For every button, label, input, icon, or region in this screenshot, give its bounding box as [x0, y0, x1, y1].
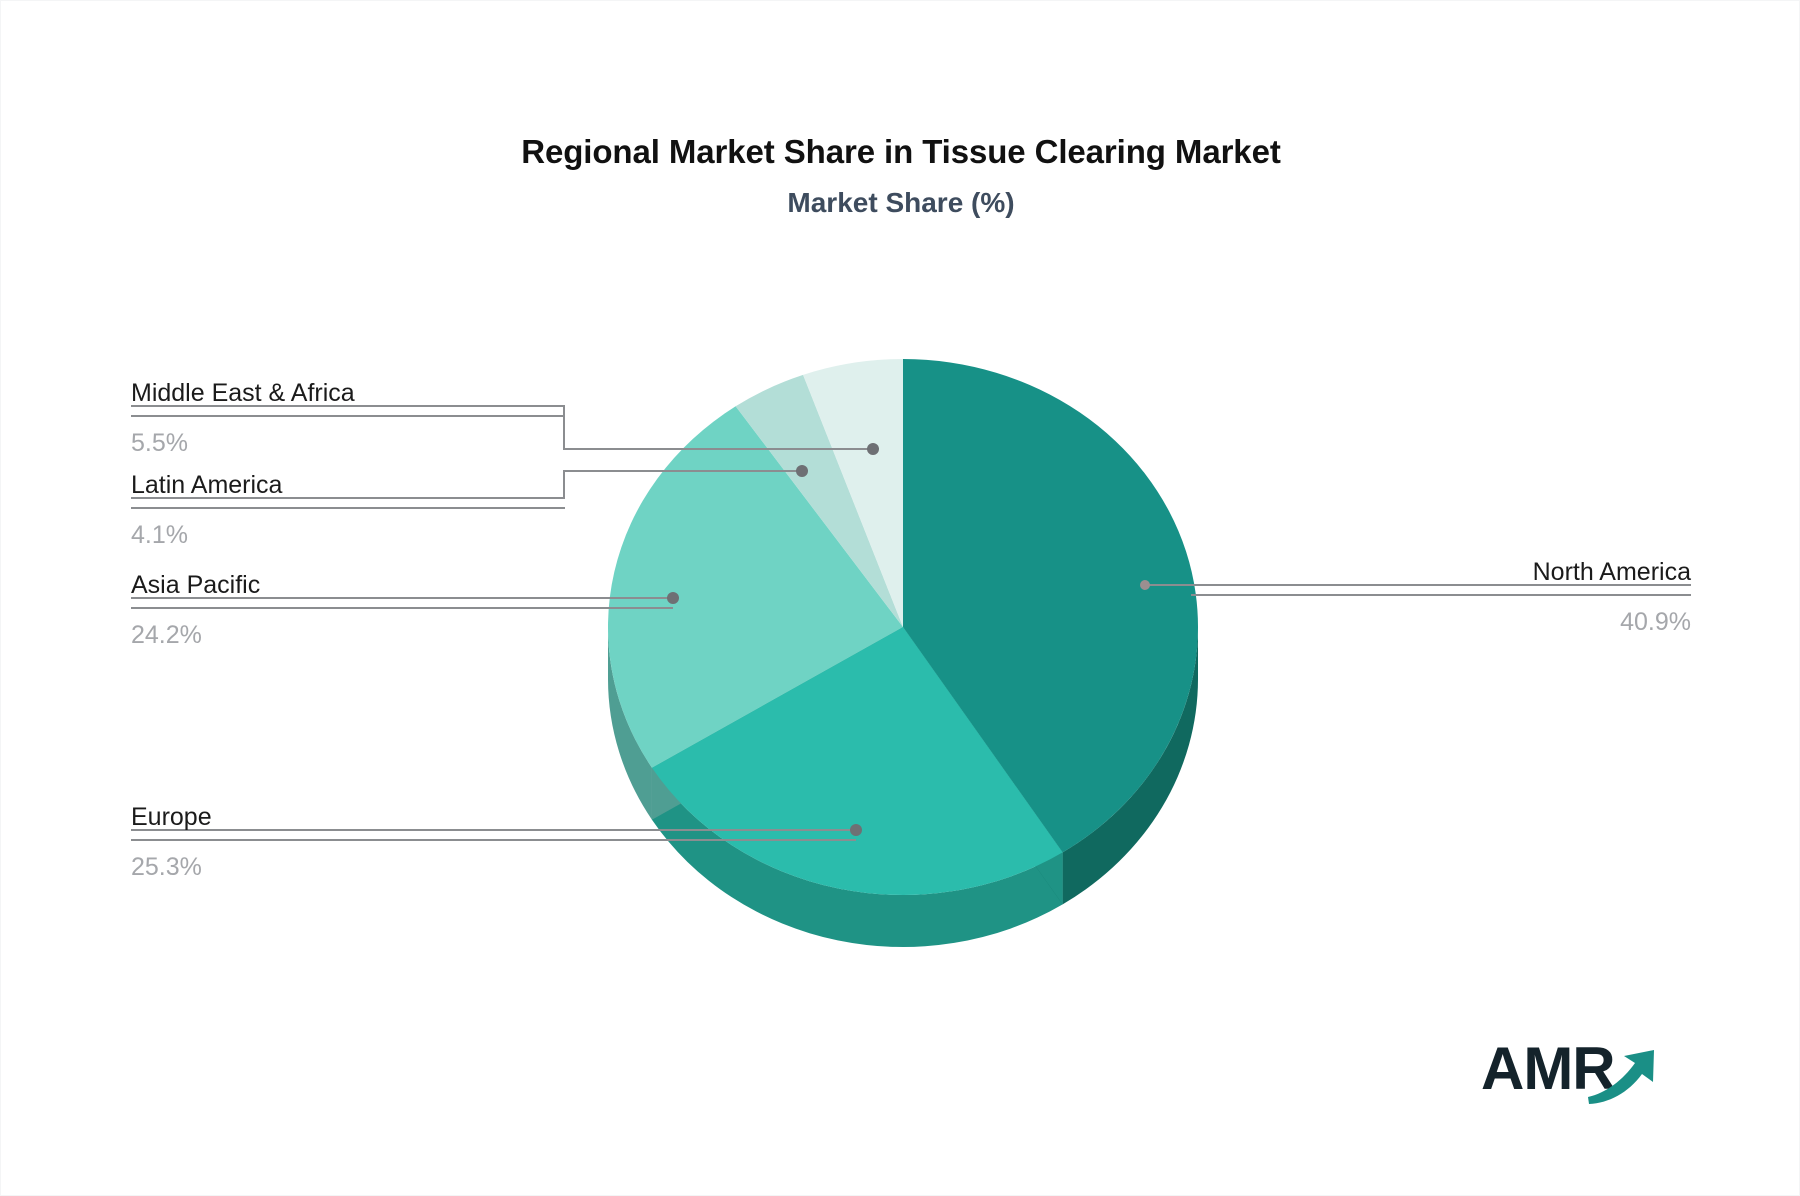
callout-europe-value: 25.3%	[131, 855, 856, 880]
callout-asia-pacific-label: Asia Pacific	[131, 573, 673, 598]
callout-north-america: North America 40.9%	[1191, 560, 1691, 635]
page-title: Regional Market Share in Tissue Clearing…	[1, 133, 1800, 171]
callout-asia-pacific: Asia Pacific 24.2%	[131, 573, 673, 648]
amr-logo-text: AMR	[1481, 1035, 1615, 1102]
callout-latin-america: Latin America 4.1%	[131, 473, 565, 548]
chart-subtitle: Market Share (%)	[1, 187, 1800, 219]
amr-logo: AMR	[1481, 1033, 1671, 1113]
callout-mea-rule	[131, 415, 565, 417]
callout-asia-pacific-value: 24.2%	[131, 623, 673, 648]
callout-latin-america-label: Latin America	[131, 473, 565, 498]
callout-north-america-rule	[1191, 594, 1691, 596]
pie-svg	[568, 359, 1238, 979]
callout-north-america-label: North America	[1191, 560, 1691, 585]
callout-europe-label: Europe	[131, 805, 856, 830]
pie-chart	[568, 359, 1238, 979]
callout-mea: Middle East & Africa 5.5%	[131, 381, 565, 456]
callout-europe: Europe 25.3%	[131, 805, 856, 880]
callout-latin-america-rule	[131, 507, 565, 509]
callout-europe-rule	[131, 839, 856, 841]
callout-north-america-value: 40.9%	[1191, 610, 1691, 635]
chart-canvas: Regional Market Share in Tissue Clearing…	[0, 0, 1800, 1196]
callout-mea-label: Middle East & Africa	[131, 381, 565, 406]
callout-asia-pacific-rule	[131, 607, 673, 609]
callout-latin-america-value: 4.1%	[131, 523, 565, 548]
callout-mea-value: 5.5%	[131, 431, 565, 456]
